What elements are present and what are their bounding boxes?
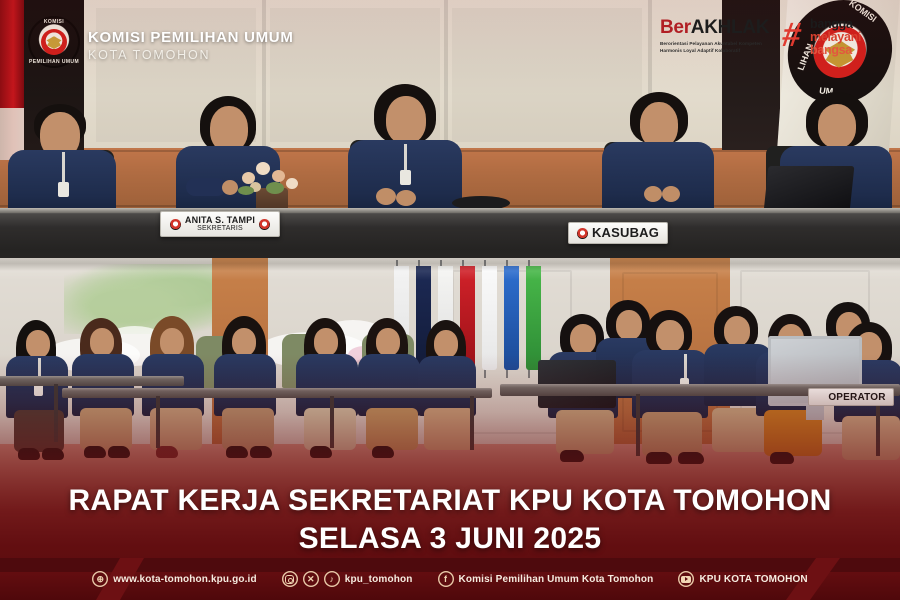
nameplate-name: OPERATOR <box>828 392 885 403</box>
flower-decoration <box>236 160 306 212</box>
berakhlak-subtitle-line2: Harmonis Loyal Adaptif Kolaboratif <box>660 47 780 54</box>
footer-youtube-label: KPU KOTA TOMOHON <box>699 574 807 585</box>
institution-city: KOTA TOMOHON <box>88 48 294 62</box>
nameplate-kasubag: KASUBAG <box>568 222 668 244</box>
youtube-icon <box>678 571 694 587</box>
table-leg <box>636 394 640 456</box>
bangga-line2: melayani <box>810 31 861 44</box>
footer-website[interactable]: ⊕ www.kota-tomohon.kpu.go.id <box>92 571 257 587</box>
kpu-emblem-ring-bottom: PEMILIHAN UMUM <box>28 59 80 65</box>
tiktok-glyph: ♪ <box>329 575 334 584</box>
nameplate-sekretaris: ANITA S. TAMPI SEKRETARIS <box>160 211 280 237</box>
footer-social-handles[interactable]: ✕ ♪ kpu_tomohon <box>282 571 413 587</box>
footer-handle-label: kpu_tomohon <box>345 574 413 585</box>
berakhlak-title-part2: AKHLAK <box>691 17 769 38</box>
instagram-icon <box>282 571 298 587</box>
footer-facebook-label: Komisi Pemilihan Umum Kota Tomohon <box>459 574 654 585</box>
header-title-group: KOMISI PEMILIHAN UMUM KOTA TOMOHON <box>88 29 294 62</box>
kpu-mini-seal-icon <box>259 219 270 230</box>
bangga-line1: bangga <box>810 18 861 31</box>
berakhlak-title-part1: Ber <box>660 17 691 38</box>
nameplate-role: SEKRETARIS <box>185 225 255 232</box>
monitor-stand <box>806 406 824 420</box>
berakhlak-subtitle: Berorientasi Pelayanan Akuntabel Kompete… <box>660 40 780 54</box>
panel-table-edge <box>0 208 900 213</box>
nameplate-name: KASUBAG <box>592 225 659 240</box>
globe-icon: ⊕ <box>92 571 108 587</box>
footer-facebook[interactable]: f Komisi Pemilihan Umum Kota Tomohon <box>438 571 654 587</box>
kpu-emblem-icon: KOMISI PEMILIHAN UMUM <box>28 16 80 68</box>
footer-bar: ⊕ www.kota-tomohon.kpu.go.id ✕ ♪ kpu_tom… <box>0 558 900 600</box>
poster-canvas: KOMISI PEMILIHAN UMUM KOMISI LIHAN UM <box>0 0 900 600</box>
table-leg <box>156 396 160 448</box>
laptop <box>764 166 855 212</box>
globe-glyph: ⊕ <box>96 575 104 584</box>
tiktok-icon: ♪ <box>324 571 340 587</box>
kpu-mini-seal-icon <box>577 228 588 239</box>
footer-youtube[interactable]: KPU KOTA TOMOHON <box>678 571 807 587</box>
table-leg <box>330 396 334 448</box>
wall-panel <box>452 8 642 142</box>
footer-website-label: www.kota-tomohon.kpu.go.id <box>113 574 257 585</box>
bangga-line3: bangsa <box>810 44 861 57</box>
table-leg <box>54 384 58 442</box>
kpu-emblem-ring-top: KOMISI <box>28 19 80 25</box>
meeting-table <box>0 376 184 386</box>
photo-bottom-panel: OPERATOR <box>0 258 900 600</box>
x-glyph: ✕ <box>307 575 315 584</box>
kpu-mini-seal-icon <box>816 393 825 402</box>
kpu-mini-seal-icon <box>170 219 181 230</box>
table-leg <box>470 396 474 450</box>
bangga-melayani-bangsa-logo: # bangga melayani bangsa <box>782 16 894 64</box>
indonesia-flag <box>0 0 24 160</box>
meeting-table <box>62 388 492 398</box>
bangga-text-group: bangga melayani bangsa <box>810 18 861 56</box>
x-twitter-icon: ✕ <box>303 571 319 587</box>
hashtag-icon: # <box>780 20 811 54</box>
berakhlak-logo: BerAKHLAK Berorientasi Pelayanan Akuntab… <box>660 18 780 54</box>
nameplate-operator: OPERATOR <box>808 388 894 406</box>
facebook-glyph: f <box>444 575 447 584</box>
institution-name: KOMISI PEMILIHAN UMUM <box>88 29 294 46</box>
facebook-icon: f <box>438 571 454 587</box>
berakhlak-title: BerAKHLAK <box>660 18 780 37</box>
nameplate-name: ANITA S. TAMPI <box>185 216 255 225</box>
footer-contact-list: ⊕ www.kota-tomohon.kpu.go.id ✕ ♪ kpu_tom… <box>0 558 900 600</box>
berakhlak-subtitle-line1: Berorientasi Pelayanan Akuntabel Kompete… <box>660 40 780 47</box>
garuda-icon <box>41 29 67 55</box>
